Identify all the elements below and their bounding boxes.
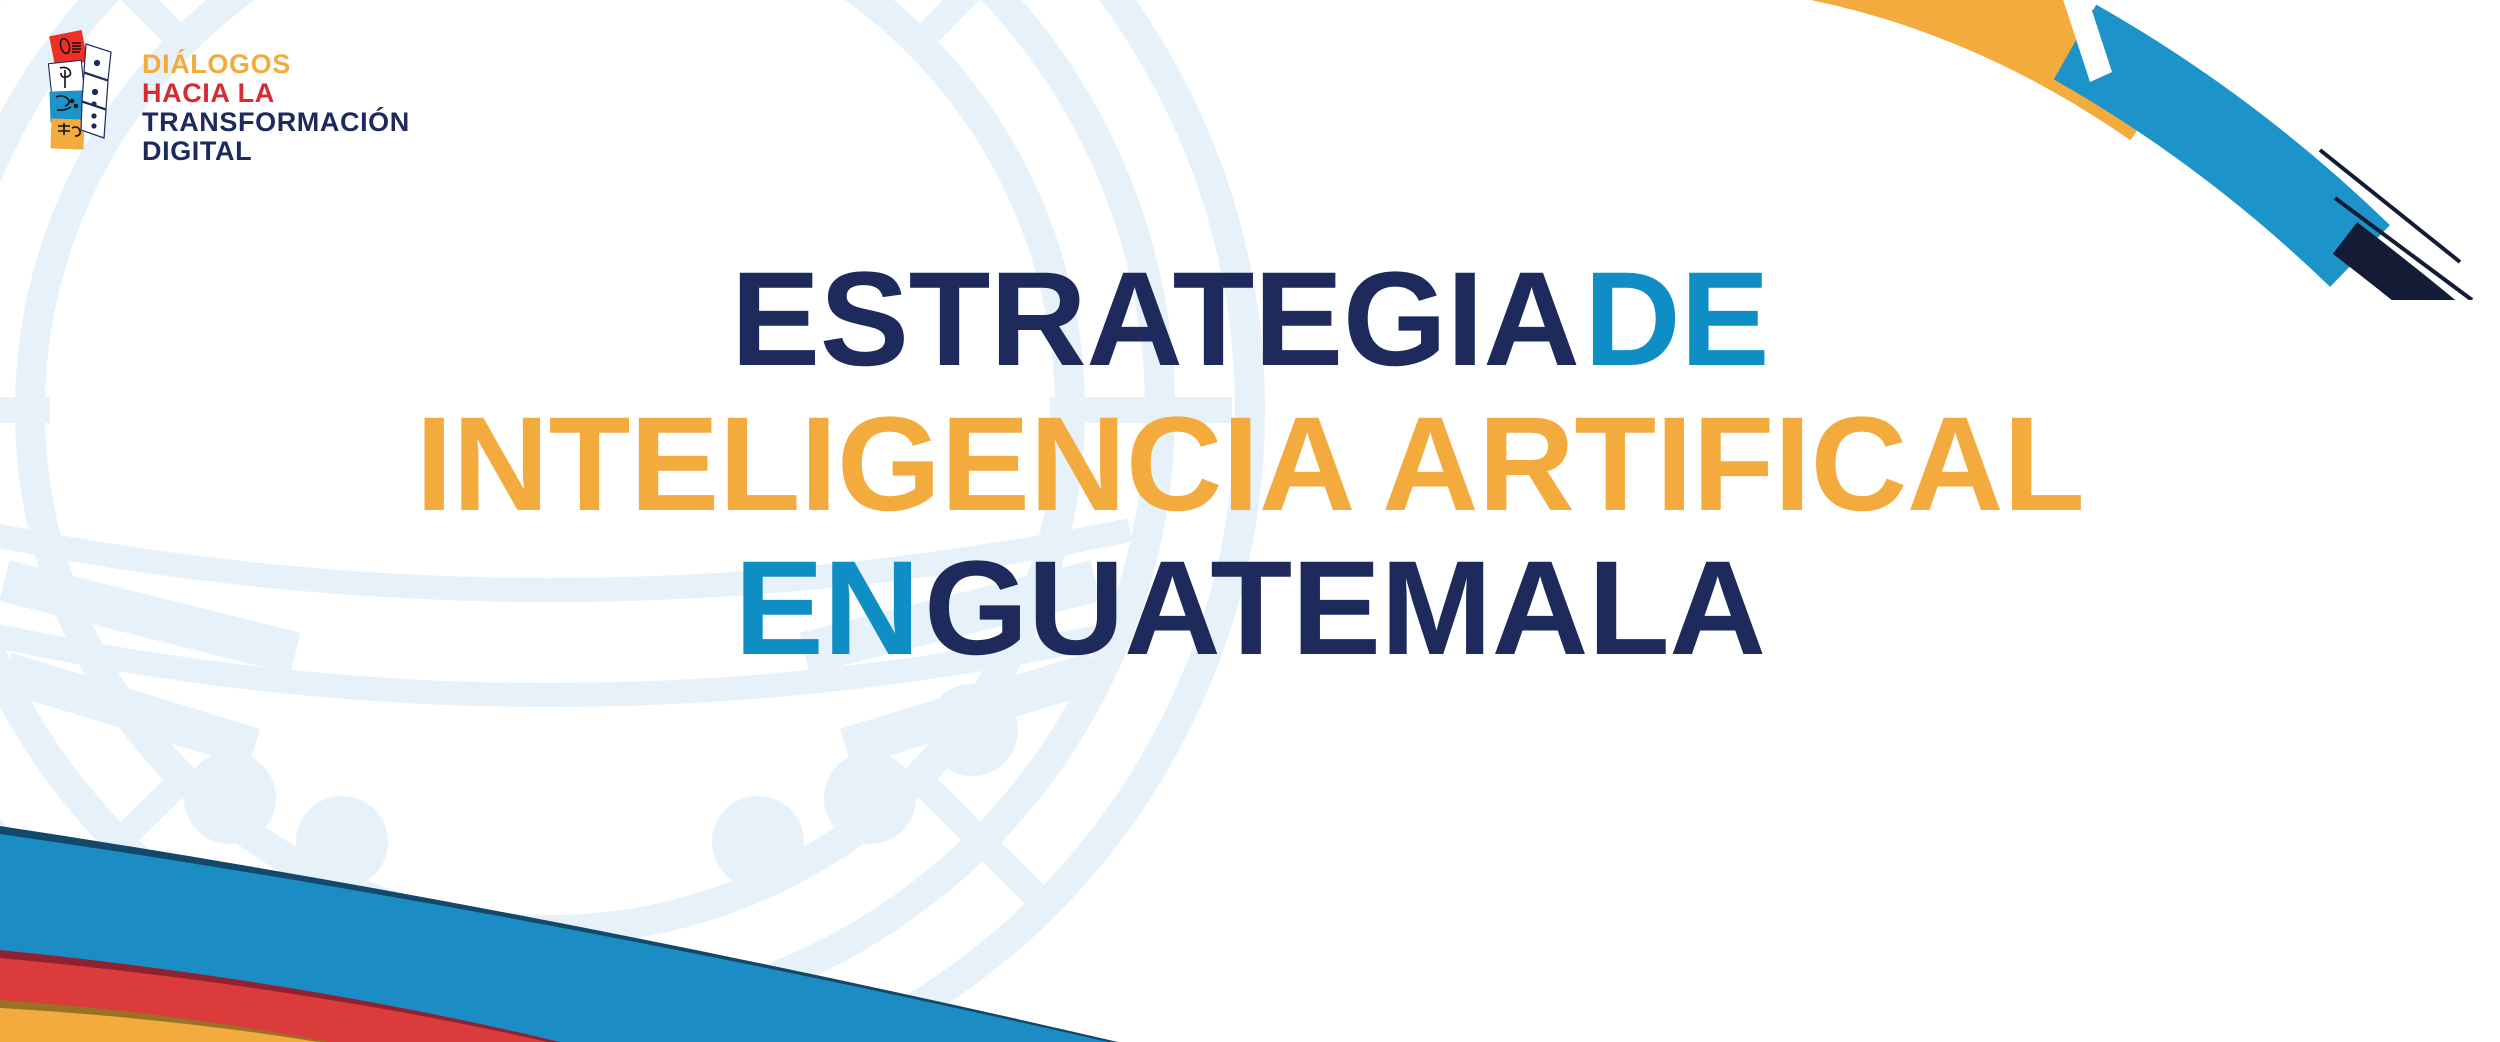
top-right-color-arc (1760, 0, 2500, 300)
title-word-estrategia: ESTRATEGIA (731, 245, 1580, 394)
logo-line-1: DIÁLOGOS (142, 50, 410, 79)
logo-line-2: HACIA LA (142, 79, 410, 108)
bottom-left-wave-ribbons (0, 712, 1500, 1042)
title-line-3: EN GUATEMALA (0, 547, 2500, 672)
page-title: ESTRATEGIA DE INTELIGENCIA ARTIFICAL EN … (0, 258, 2500, 672)
dialogos-glyph-mark-icon (48, 30, 128, 150)
logo-line-3: TRANSFORMACIÓN (142, 108, 410, 137)
logo-line-4: DIGITAL (142, 137, 410, 166)
title-word-en: EN (734, 534, 919, 683)
brand-logo[interactable]: DIÁLOGOS HACIA LA TRANSFORMACIÓN DIGITAL (48, 30, 410, 166)
brand-logo-wordmark: DIÁLOGOS HACIA LA TRANSFORMACIÓN DIGITAL (142, 50, 410, 166)
title-word-guatemala: GUATEMALA (924, 534, 1766, 683)
title-words-inteligencia-artifical: INTELIGENCIA ARTIFICAL (416, 390, 2085, 539)
banner-root: DIÁLOGOS HACIA LA TRANSFORMACIÓN DIGITAL… (0, 0, 2500, 1042)
title-line-1: ESTRATEGIA DE (0, 258, 2500, 383)
title-line-2: INTELIGENCIA ARTIFICAL (0, 403, 2500, 528)
title-word-de: DE (1584, 245, 1769, 394)
